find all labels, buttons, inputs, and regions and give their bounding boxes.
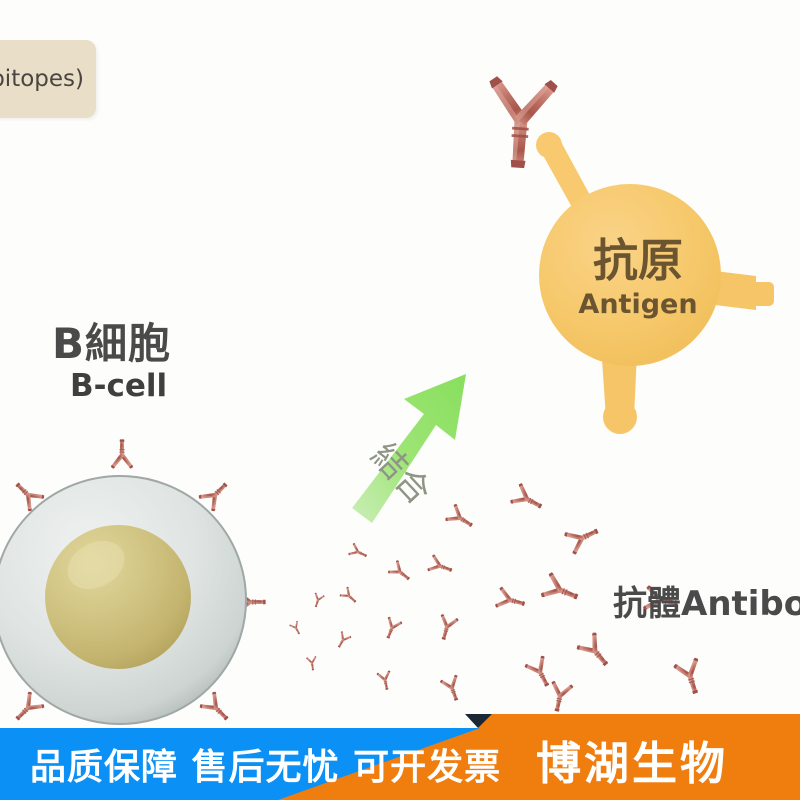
antigen-label-en: Antigen (538, 289, 738, 320)
diagram-canvas: (Epitopes) B細胞 B-cell 抗原 Antigen 抗體Antib… (0, 0, 800, 800)
epitopes-callout: (Epitopes) (0, 40, 96, 118)
bcell-label-cn: B細胞 (52, 322, 171, 366)
bcell-label: B細胞 B-cell (52, 322, 171, 403)
bottom-banner: 品质保障 售后无忧 可开发票 博湖生物 (0, 728, 800, 800)
epitopes-callout-text: (Epitopes) (0, 66, 96, 92)
antigen-label-group: 抗原 Antigen (520, 165, 800, 435)
bcell-label-en: B-cell (70, 370, 171, 403)
banner-brand-text: 博湖生物 (536, 727, 728, 792)
antibody-label: 抗體Antibody (613, 576, 800, 625)
antigen-label-cn: 抗原 (538, 238, 738, 283)
banner-slogan-text: 品质保障 售后无忧 可开发票 (30, 738, 501, 790)
